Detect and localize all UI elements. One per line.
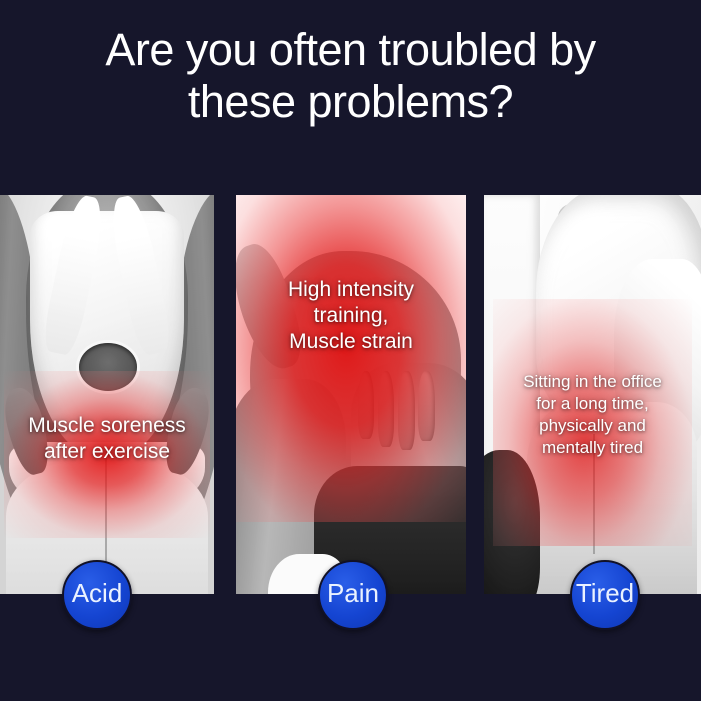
panel-caption: Muscle soreness after exercise [0,413,214,465]
problem-panel-pain[interactable]: High intensity training, Muscle strain [236,195,466,594]
shoulder-pain-photo [236,195,466,594]
page-title: Are you often troubled by these problems… [0,24,701,128]
badge-tired[interactable]: Tired [570,560,640,630]
panel-caption: Sitting in the office for a long time, p… [484,371,701,459]
back-pain-photo [0,195,214,594]
bra-cutout [79,343,137,391]
badge-acid[interactable]: Acid [62,560,132,630]
panel-caption: High intensity training, Muscle strain [236,277,466,355]
problem-panel-acid[interactable]: Muscle soreness after exercise [0,195,214,594]
fingers-shape [356,371,453,451]
problem-panel-tired[interactable]: Sitting in the office for a long time, p… [484,195,701,594]
promo-poster: Are you often troubled by these problems… [0,0,701,701]
badge-pain[interactable]: Pain [318,560,388,630]
